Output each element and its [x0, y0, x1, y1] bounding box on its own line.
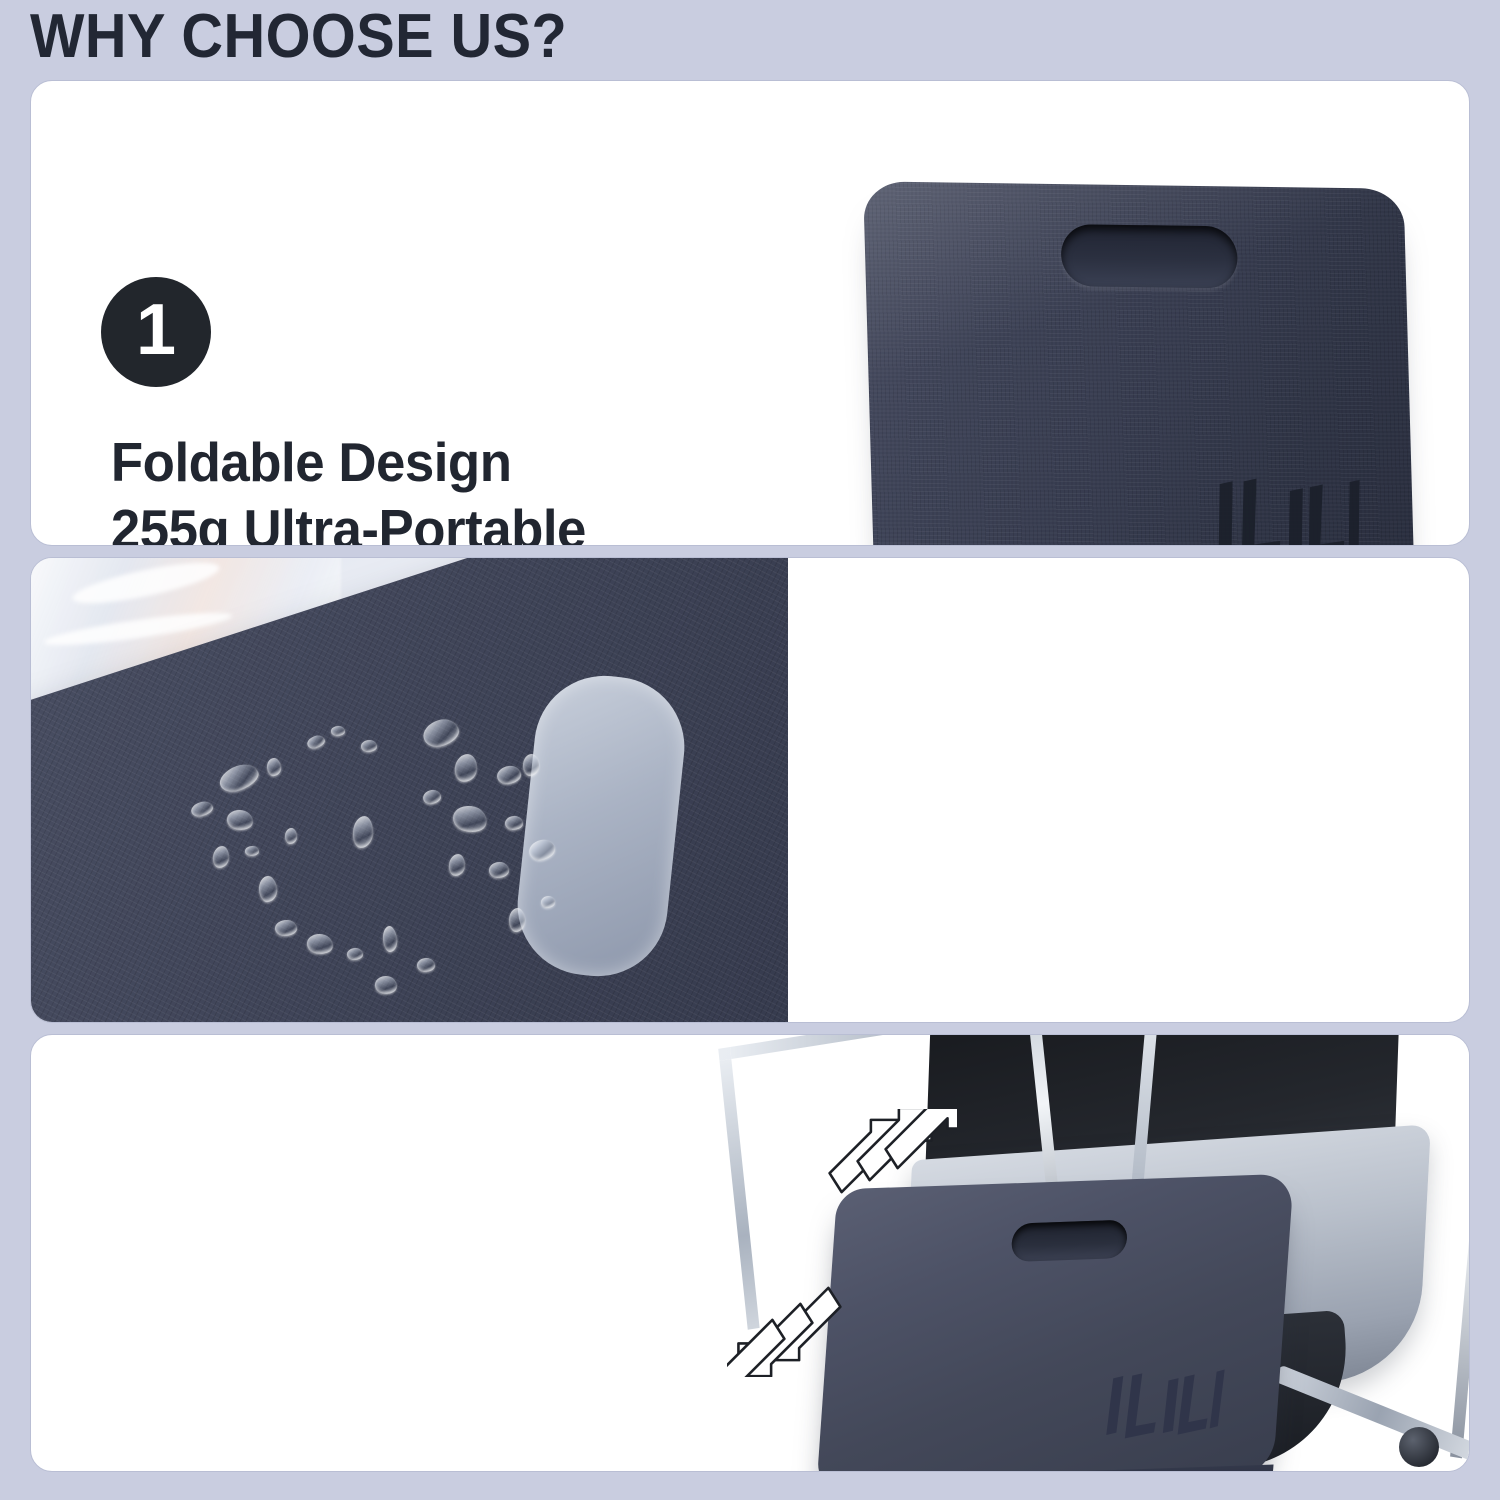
- chevrons-up-right-icon: [827, 1109, 957, 1219]
- water-droplet: [347, 948, 363, 960]
- chevrons-down-left-icon: [727, 1267, 857, 1377]
- headline-line: 255g Ultra-Portable: [111, 496, 586, 546]
- water-droplet: [417, 958, 435, 972]
- ilili-logo-icon: [1101, 1369, 1225, 1440]
- water-droplet: [505, 816, 523, 830]
- water-droplet: [541, 896, 555, 908]
- cushion-body: [863, 181, 1415, 546]
- carry-handle-slot: [1060, 224, 1238, 288]
- feature-card-waterproof: 2 Waterproof Stain-Resistant: [30, 557, 1470, 1023]
- product-image-water-droplets: [31, 558, 788, 1023]
- chair-caster: [1399, 1427, 1439, 1467]
- water-droplet: [275, 920, 297, 936]
- cushion-side-edge: [815, 1465, 1274, 1472]
- product-image-chair-render: [709, 1035, 1469, 1472]
- feature-card-non-slip: 3 Non-Slip Surface: [30, 1034, 1470, 1472]
- card-1-headline: Foldable Design 255g Ultra-Portable: [111, 429, 586, 546]
- water-droplet: [509, 908, 525, 932]
- carry-handle-slot: [1010, 1220, 1128, 1262]
- product-image-cushion-front: [821, 167, 1470, 546]
- headline-line: Foldable Design: [111, 429, 586, 496]
- water-droplet: [523, 754, 539, 776]
- water-droplet: [285, 828, 297, 844]
- step-badge-1: 1: [101, 277, 211, 387]
- ilili-logo-icon: [1209, 478, 1361, 546]
- water-droplet: [245, 846, 259, 856]
- card-1-copy: 1 Foldable Design 255g Ultra-Portable: [101, 277, 596, 546]
- water-droplet: [489, 862, 509, 878]
- water-droplet: [331, 726, 345, 736]
- feature-card-foldable: 1 Foldable Design 255g Ultra-Portable: [30, 80, 1470, 546]
- page-title: WHY CHOOSE US?: [30, 4, 567, 69]
- water-droplet: [361, 740, 377, 752]
